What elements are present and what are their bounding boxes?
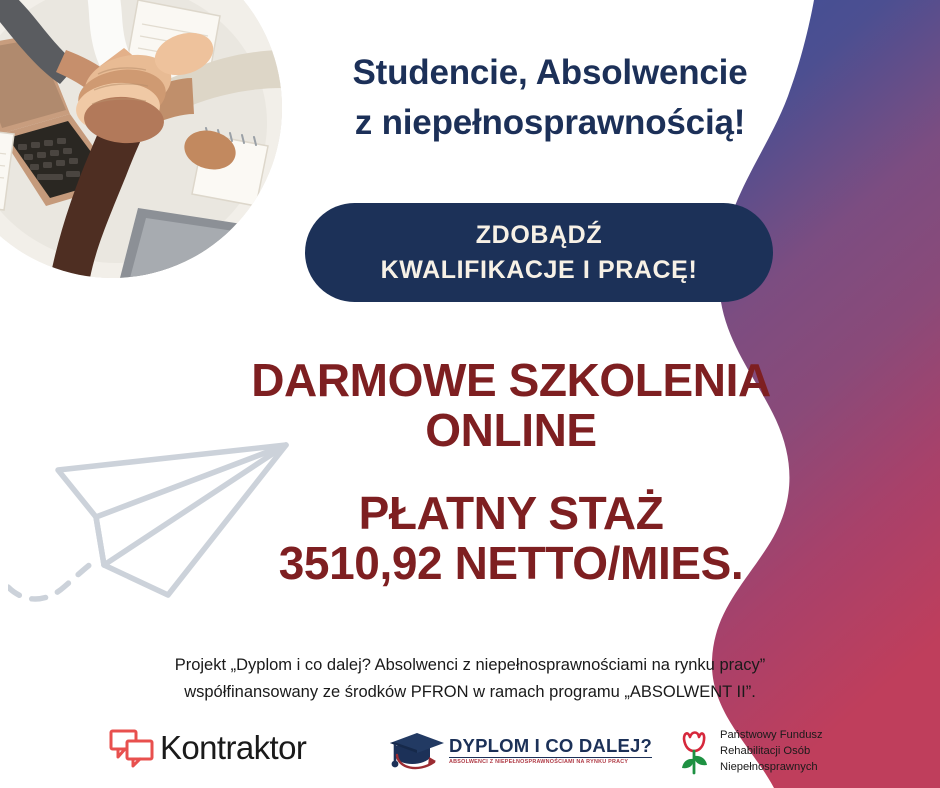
logo-pfron-line-2: Rehabilitacji Osób xyxy=(720,744,823,760)
cta-banner[interactable]: ZDOBĄDŹ KWALIFIKACJE I PRACĘ! xyxy=(305,203,773,302)
logo-pfron-label: Państwowy Fundusz Rehabilitacji Osób Nie… xyxy=(720,728,823,776)
logo-pfron-line-1: Państwowy Fundusz xyxy=(720,728,823,744)
funding-note: Projekt „Dyplom i co dalej? Absolwenci z… xyxy=(95,652,845,705)
funding-note-line-1: Projekt „Dyplom i co dalej? Absolwenci z… xyxy=(95,652,845,679)
headline-line-2: z niepełnosprawnością! xyxy=(290,98,810,148)
logo-pfron-line-3: Niepełnosprawnych xyxy=(720,760,823,776)
headline-line-1: Studencie, Absolwencie xyxy=(353,53,748,92)
cta-line-2: KWALIFIKACJE I PRACĘ! xyxy=(381,253,698,288)
cta-line-1: ZDOBĄDŹ xyxy=(476,218,602,253)
offer-training-line-2: ONLINE xyxy=(228,406,794,456)
funding-note-line-2: współfinansowany ze środków PFRON w rama… xyxy=(95,679,845,706)
offer-salary-line-2: 3510,92 NETTO/MIES. xyxy=(228,539,794,589)
logo-dyplom-title: DYPLOM I CO DALEJ? xyxy=(449,736,652,755)
speech-bubbles-icon xyxy=(108,728,158,768)
offer-salary: PŁATNY STAŻ 3510,92 NETTO/MIES. xyxy=(228,489,794,588)
offer-salary-line-1: PŁATNY STAŻ xyxy=(228,489,794,539)
offer-training-line-1: DARMOWE SZKOLENIA xyxy=(228,356,794,406)
logo-dyplom-subtitle: ABSOLWENCI Z NIEPEŁNOSPRAWNOŚCIAMI NA RY… xyxy=(449,760,652,766)
logo-strip: Kontraktor DYPLOM I CO DALEJ? ABSOLWENCI… xyxy=(0,722,860,788)
tulip-icon xyxy=(678,729,714,775)
offer-training: DARMOWE SZKOLENIA ONLINE xyxy=(228,356,794,455)
team-hands-photo xyxy=(0,0,282,278)
graduation-cap-icon xyxy=(388,728,446,774)
page-title: Studencie, Absolwencie z niepełnosprawno… xyxy=(290,48,810,147)
logo-kontraktor: Kontraktor xyxy=(108,728,306,768)
logo-kontraktor-label: Kontraktor xyxy=(160,729,306,767)
logo-pfron: Państwowy Fundusz Rehabilitacji Osób Nie… xyxy=(678,728,823,776)
promo-poster: Studencie, Absolwencie z niepełnosprawno… xyxy=(0,0,940,788)
logo-dyplom: DYPLOM I CO DALEJ? ABSOLWENCI Z NIEPEŁNO… xyxy=(388,728,652,774)
